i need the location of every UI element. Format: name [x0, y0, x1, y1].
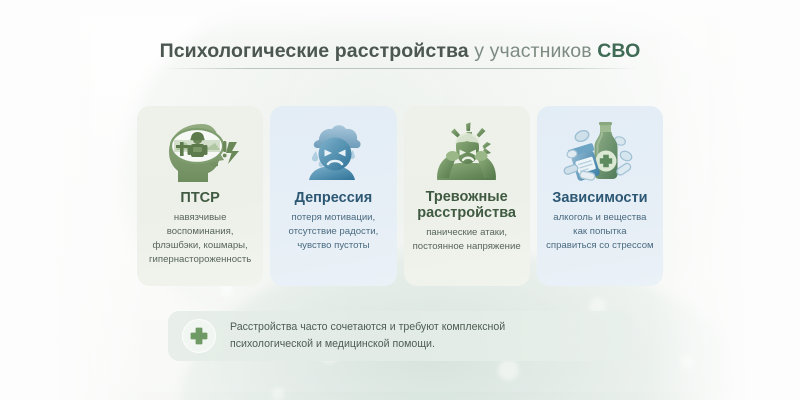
stressed-head-clutch-icon	[424, 114, 510, 188]
infographic-root: Психологические расстройства у участнико…	[0, 0, 800, 400]
bottle-pills-icon	[557, 114, 643, 188]
card-desc-depressiya: потеря мотивации, отсутствие радости, чу…	[283, 211, 383, 253]
header: Психологические расстройства у участнико…	[0, 40, 800, 63]
footer-text-line: психологической и медицинской помощи.	[230, 336, 505, 353]
card-title-line: расстройства	[417, 205, 516, 221]
card-desc-line: флэшбэки, кошмары,	[153, 240, 248, 251]
page-title-accent: СВО	[597, 40, 640, 62]
card-desc-line: потеря мотивации,	[292, 212, 376, 223]
card-title-ptsr: ПТСР	[180, 190, 219, 206]
card-desc-line: панические атаки,	[426, 227, 507, 238]
card-zavisimosti[interactable]: Зависимости алкоголь и вещества как попы…	[537, 106, 663, 286]
card-desc-zavisimosti: алкоголь и вещества как попытка справить…	[541, 211, 659, 253]
card-desc-ptsr: навязчивые воспоминания, флэшбэки, кошма…	[144, 211, 256, 267]
card-desc-line: навязчивые	[174, 212, 227, 223]
card-title-trevozhnye: Тревожные расстройства	[417, 189, 516, 221]
disorder-card-list: ПТСР навязчивые воспоминания, флэшбэки, …	[137, 106, 663, 286]
page-title: Психологические расстройства у участнико…	[0, 40, 800, 63]
page-title-strong: Психологические расстройства	[160, 40, 469, 62]
card-desc-line: справиться со стрессом	[546, 240, 654, 251]
card-ptsr[interactable]: ПТСР навязчивые воспоминания, флэшбэки, …	[137, 106, 263, 286]
footer-text: Расстройства часто сочетаются и требуют …	[230, 319, 505, 353]
card-title-depressiya: Депрессия	[295, 190, 373, 206]
card-desc-line: алкоголь и вещества	[553, 212, 646, 223]
page-title-mid: у участников	[469, 40, 597, 62]
card-desc-trevozhnye: панические атаки, постоянное напряжение	[408, 226, 526, 254]
card-depressiya[interactable]: Депрессия потеря мотивации, отсутствие р…	[270, 106, 396, 286]
head-soldier-flashback-icon	[157, 114, 243, 188]
title-divider	[162, 68, 639, 69]
footer-text-line: Расстройства часто сочетаются и требуют …	[230, 319, 505, 336]
footer-note: Расстройства часто сочетаются и требуют …	[168, 311, 632, 361]
sad-face-rain-cloud-icon	[290, 114, 376, 188]
card-title-zavisimosti: Зависимости	[552, 190, 647, 206]
card-title-line: Тревожные	[426, 189, 508, 205]
card-desc-line: постоянное напряжение	[413, 241, 521, 252]
card-trevozhnye[interactable]: Тревожные расстройства панические атаки,…	[404, 106, 530, 286]
card-desc-line: воспоминания,	[167, 226, 234, 237]
medical-cross-icon	[182, 319, 216, 353]
card-desc-line: отсутствие радости,	[288, 226, 378, 237]
card-desc-line: как попытка	[573, 226, 626, 237]
card-desc-line: гипернастороженность	[149, 254, 251, 265]
card-desc-line: чувство пустоты	[297, 240, 369, 251]
